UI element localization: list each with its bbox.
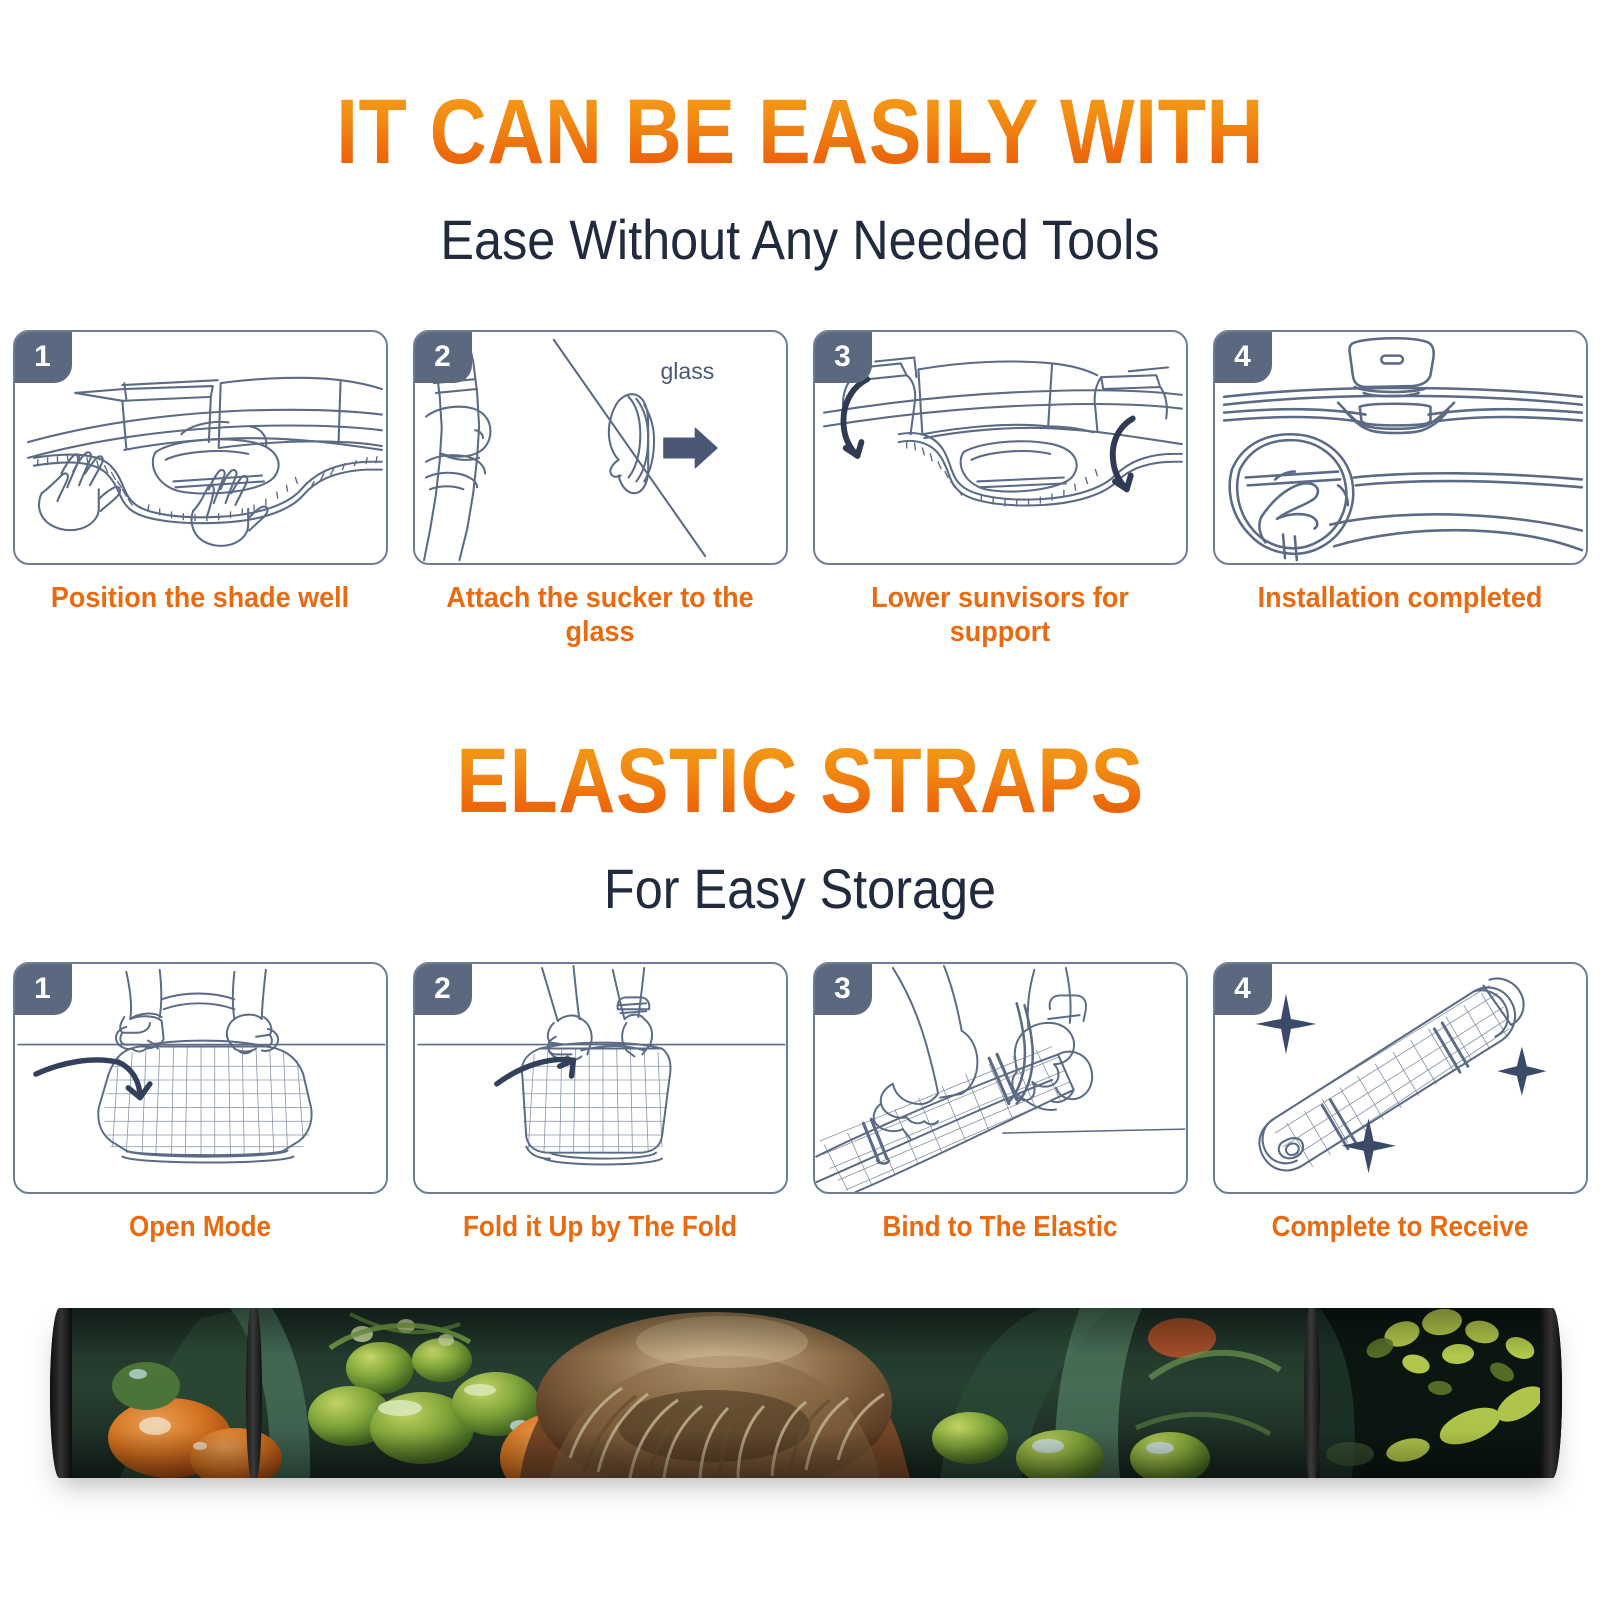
section-2-title: ELASTIC STRAPS <box>112 735 1488 827</box>
step-number-badge: 3 <box>814 963 872 1015</box>
step-caption: Position the shade well <box>23 581 376 615</box>
storage-steps-row: 1 <box>0 962 1600 1244</box>
step-illustration-panel: 2 <box>413 330 788 565</box>
glass-annotation-label: glass <box>661 358 715 385</box>
section-1-subtitle: Ease Without Any Needed Tools <box>80 212 1520 268</box>
step-caption: Lower sunvisors for support <box>823 581 1176 649</box>
step-illustration-panel: 1 <box>13 330 388 565</box>
storage-caption: Fold it Up by The Fold <box>429 1210 771 1244</box>
storage-illustration-panel: 4 <box>1213 962 1588 1194</box>
step-number-badge: 1 <box>14 963 72 1015</box>
rolled-sunshade-roll <box>50 1308 1562 1478</box>
product-photo <box>50 1308 1562 1478</box>
storage-illustration-panel: 1 <box>13 962 388 1194</box>
storage-card-4: 4 <box>1200 962 1600 1244</box>
step-caption: Installation completed <box>1223 581 1576 615</box>
storage-caption: Complete to Receive <box>1229 1210 1571 1244</box>
step-card-3: 3 <box>800 330 1200 649</box>
storage-caption: Bind to The Elastic <box>829 1210 1171 1244</box>
step-number-badge: 1 <box>14 331 72 383</box>
elastic-band-left <box>246 1308 262 1478</box>
printed-artwork <box>50 1308 1562 1478</box>
section-1-heading: IT CAN BE EASILY WITH Ease Without Any N… <box>0 86 1600 268</box>
step-illustration-panel: 3 <box>813 330 1188 565</box>
step-number-badge: 2 <box>414 331 472 383</box>
step-number-badge: 4 <box>1214 331 1272 383</box>
section-2-heading: ELASTIC STRAPS For Easy Storage <box>0 735 1600 917</box>
storage-card-2: 2 <box>400 962 800 1244</box>
storage-caption: Open Mode <box>29 1210 371 1244</box>
step-card-4: 4 <box>1200 330 1600 649</box>
step-number-badge: 4 <box>1214 963 1272 1015</box>
elastic-band-right <box>1304 1308 1320 1478</box>
step-card-2: 2 <box>400 330 800 649</box>
section-2-subtitle: For Easy Storage <box>80 861 1520 917</box>
installation-steps-row: 1 <box>0 330 1600 649</box>
section-1-title: IT CAN BE EASILY WITH <box>112 86 1488 178</box>
roll-end-cap-left <box>50 1308 72 1478</box>
storage-card-1: 1 <box>0 962 400 1244</box>
step-number-badge: 2 <box>414 963 472 1015</box>
storage-illustration-panel: 3 <box>813 962 1188 1194</box>
step-illustration-panel: 4 <box>1213 330 1588 565</box>
storage-card-3: 3 <box>800 962 1200 1244</box>
step-caption: Attach the sucker to the glass <box>423 581 776 649</box>
step-number-badge: 3 <box>814 331 872 383</box>
step-card-1: 1 <box>0 330 400 649</box>
roll-end-cap-right <box>1540 1308 1562 1478</box>
storage-illustration-panel: 2 <box>413 962 788 1194</box>
